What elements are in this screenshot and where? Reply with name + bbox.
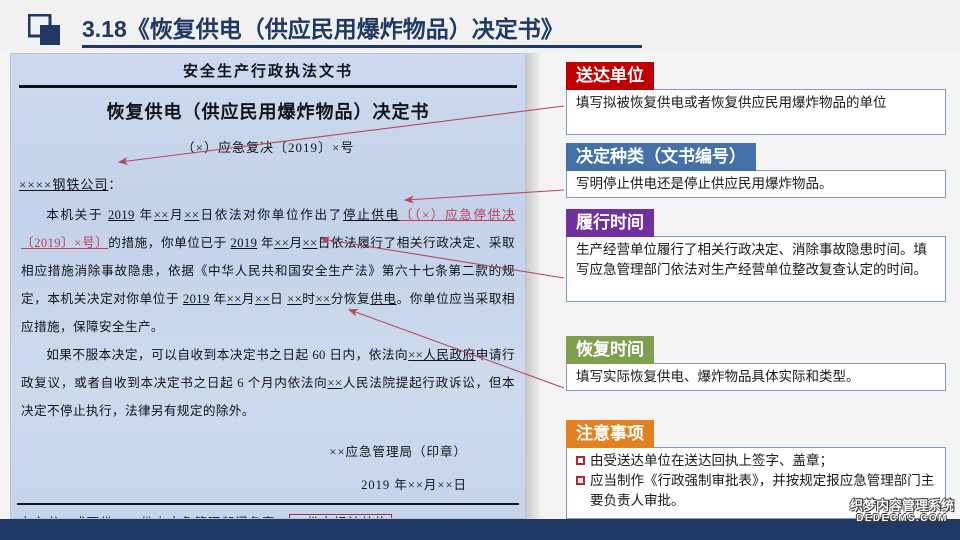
recipient-suffix: ： (108, 177, 122, 192)
annotation-body: 生产经营单位履行了相关行政决定、消除事故隐患时间。填写应急管理部门依法对生产经营… (566, 236, 946, 302)
document-header-title: 安全生产行政执法文书 (11, 60, 525, 81)
watermark: 织梦内容管理系统 DEDECMS.COM (850, 498, 954, 525)
annotation-heading: 注意事项 (566, 420, 654, 448)
p2-government: ××人民政府 (408, 348, 476, 362)
document-signature: ××应急管理局（印章） (11, 441, 467, 460)
p1-f: 年 (257, 236, 274, 250)
document-paragraph-1: 本机关于 2019 年××月××日依法对你单位作出了停止供电〔（×）应急停供决〔… (21, 201, 515, 341)
slide-canvas: 3.18《恢复供电（供应民用爆炸物品）决定书》 安全生产行政执法文书 恢复供电（… (0, 0, 960, 540)
p1-day3: ×× (255, 292, 270, 306)
annotation-heading: 恢复时间 (566, 336, 654, 364)
p1-i: 年 (210, 292, 227, 306)
annotation-heading: 履行时间 (566, 209, 654, 237)
annotation-delivery-unit[interactable]: 送达单位 填写拟被恢复供电或者恢复供应民用爆炸物品的单位 (566, 62, 946, 135)
checkbox-square-icon (576, 456, 585, 465)
checkbox-square-icon (576, 476, 585, 485)
p1-link-stop-power: 停止供电 (343, 208, 400, 222)
footer-bar (0, 519, 960, 540)
p1-e: 的措施，你单位已于 (108, 236, 230, 250)
document-preview[interactable]: 安全生产行政执法文书 恢复供电（供应民用爆炸物品）决定书 （×）应急复决〔201… (10, 53, 530, 519)
p1-l: 时 (302, 292, 315, 306)
annotation-body: 填写实际恢复供电、爆炸物品具体实际和类型。 (566, 363, 946, 391)
document-foot-rule (17, 503, 519, 505)
watermark-en: DEDECMS.COM (850, 513, 954, 525)
p1-year3: 2019 (183, 292, 210, 306)
p1-year2: 2019 (231, 236, 258, 250)
p1-d: 日依法对你单位作出了 (199, 208, 343, 222)
p2-court: ×× (327, 376, 342, 390)
p1-link-power: 供电 (370, 292, 396, 306)
document-recipient: ××××钢铁公司： (19, 174, 525, 193)
annotation-body: 写明停止供电还是停止供应民用爆炸物品。 (566, 170, 946, 198)
document-double-rule (19, 85, 517, 88)
legal-document: 安全生产行政执法文书 恢复供电（供应民用爆炸物品）决定书 （×）应急复决〔201… (10, 53, 526, 519)
note-text: 由受送达单位在送达回执上签字、盖章； (590, 451, 833, 471)
p1-month1: ×× (154, 208, 169, 222)
p1-minute: ×× (316, 292, 331, 306)
document-body: 本机关于 2019 年××月××日依法对你单位作出了停止供电〔（×）应急停供决〔… (21, 201, 515, 425)
document-sign-date: 2019 年××月××日 (11, 474, 467, 493)
document-paragraph-2: 如果不服本决定，可以自收到本决定书之日起 60 日内，依法向××人民政府申请行政… (21, 341, 515, 425)
p1-month3: ×× (227, 292, 242, 306)
p1-m: 分恢复 (331, 292, 371, 306)
p1-j: 月 (242, 292, 255, 306)
p1-year1: 2019 (108, 208, 135, 222)
p1-k: 日 (270, 292, 287, 306)
p1-day2: ×× (303, 236, 318, 250)
two-squares-icon (28, 14, 62, 46)
document-footnote: 本文书一式两份：一份由应急管理部门备案，一份交相关单位。 (19, 512, 525, 519)
annotation-restore-time[interactable]: 恢复时间 填写实际恢复供电、爆炸物品具体实际和类型。 (566, 336, 946, 391)
annotation-heading: 送达单位 (566, 62, 654, 90)
p1-day1: ×× (184, 208, 199, 222)
p2-a: 如果不服本决定，可以自收到本决定书之日起 60 日内，依法向 (46, 348, 408, 362)
annotation-decision-type[interactable]: 决定种类（文书编号） 写明停止供电还是停止供应民用爆炸物品。 (566, 143, 946, 198)
title-underline (82, 45, 642, 48)
note-item: 由受送达单位在送达回执上签字、盖章； (576, 451, 937, 471)
p1-c: 月 (169, 208, 184, 222)
p1-b: 年 (135, 208, 154, 222)
watermark-cn: 织梦内容管理系统 (850, 498, 954, 513)
p1-g: 月 (289, 236, 302, 250)
document-main-title: 恢复供电（供应民用爆炸物品）决定书 (11, 98, 525, 124)
annotation-fulfillment-time[interactable]: 履行时间 生产经营单位履行了相关行政决定、消除事故隐患时间。填写应急管理部门依法… (566, 209, 946, 302)
recipient-name: ××××钢铁公司 (19, 177, 108, 192)
p1-hour: ×× (287, 292, 302, 306)
document-number: （×）应急复决〔2019〕×号 (11, 137, 525, 156)
p1-a: 本机关于 (46, 208, 108, 222)
page-title: 3.18《恢复供电（供应民用爆炸物品）决定书》 (82, 10, 564, 44)
annotation-body: 填写拟被恢复供电或者恢复供应民用爆炸物品的单位 (566, 89, 946, 135)
p1-month2: ×× (274, 236, 289, 250)
slide-title-bar: 3.18《恢复供电（供应民用爆炸物品）决定书》 (0, 0, 960, 52)
annotation-heading: 决定种类（文书编号） (566, 143, 756, 171)
document-shadow (526, 53, 540, 519)
